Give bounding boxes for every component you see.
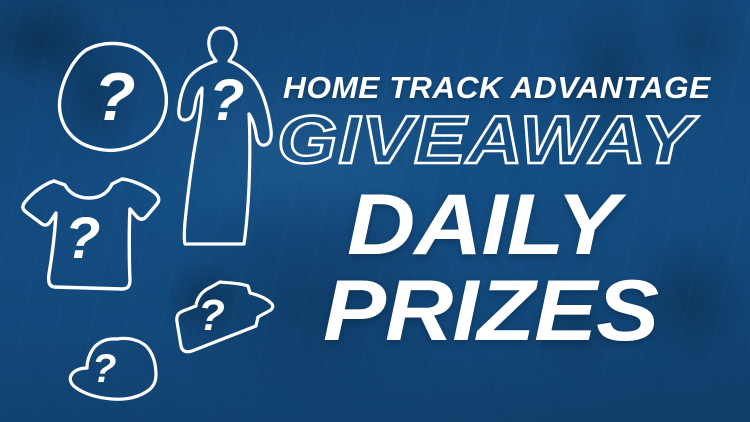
svg-text:?: ? (65, 206, 100, 271)
svg-text:?: ? (92, 347, 116, 391)
headline-text-group: HOME TRACK ADVANTAGE GIVEAWAY DAILY PRIZ… (265, 54, 735, 364)
kicker-text: HOME TRACK ADVANTAGE (283, 70, 711, 106)
baseball-cap-icon: ? (66, 332, 171, 402)
flag-wedge-icon: ? (168, 278, 276, 356)
diecast-car-blob-icon: ? (46, 36, 186, 166)
prizes-text: PRIZES (323, 268, 658, 354)
daily-text: DAILY (347, 182, 618, 268)
svg-text:?: ? (209, 68, 244, 133)
giveaway-banner: ? ? ? ? ? HOME TRACK ADVANTAGE GIVEAWAY … (0, 0, 750, 422)
svg-text:?: ? (94, 59, 136, 135)
t-shirt-icon: ? (18, 176, 163, 296)
svg-text:?: ? (198, 291, 225, 340)
giveaway-text: GIVEAWAY (277, 106, 694, 174)
